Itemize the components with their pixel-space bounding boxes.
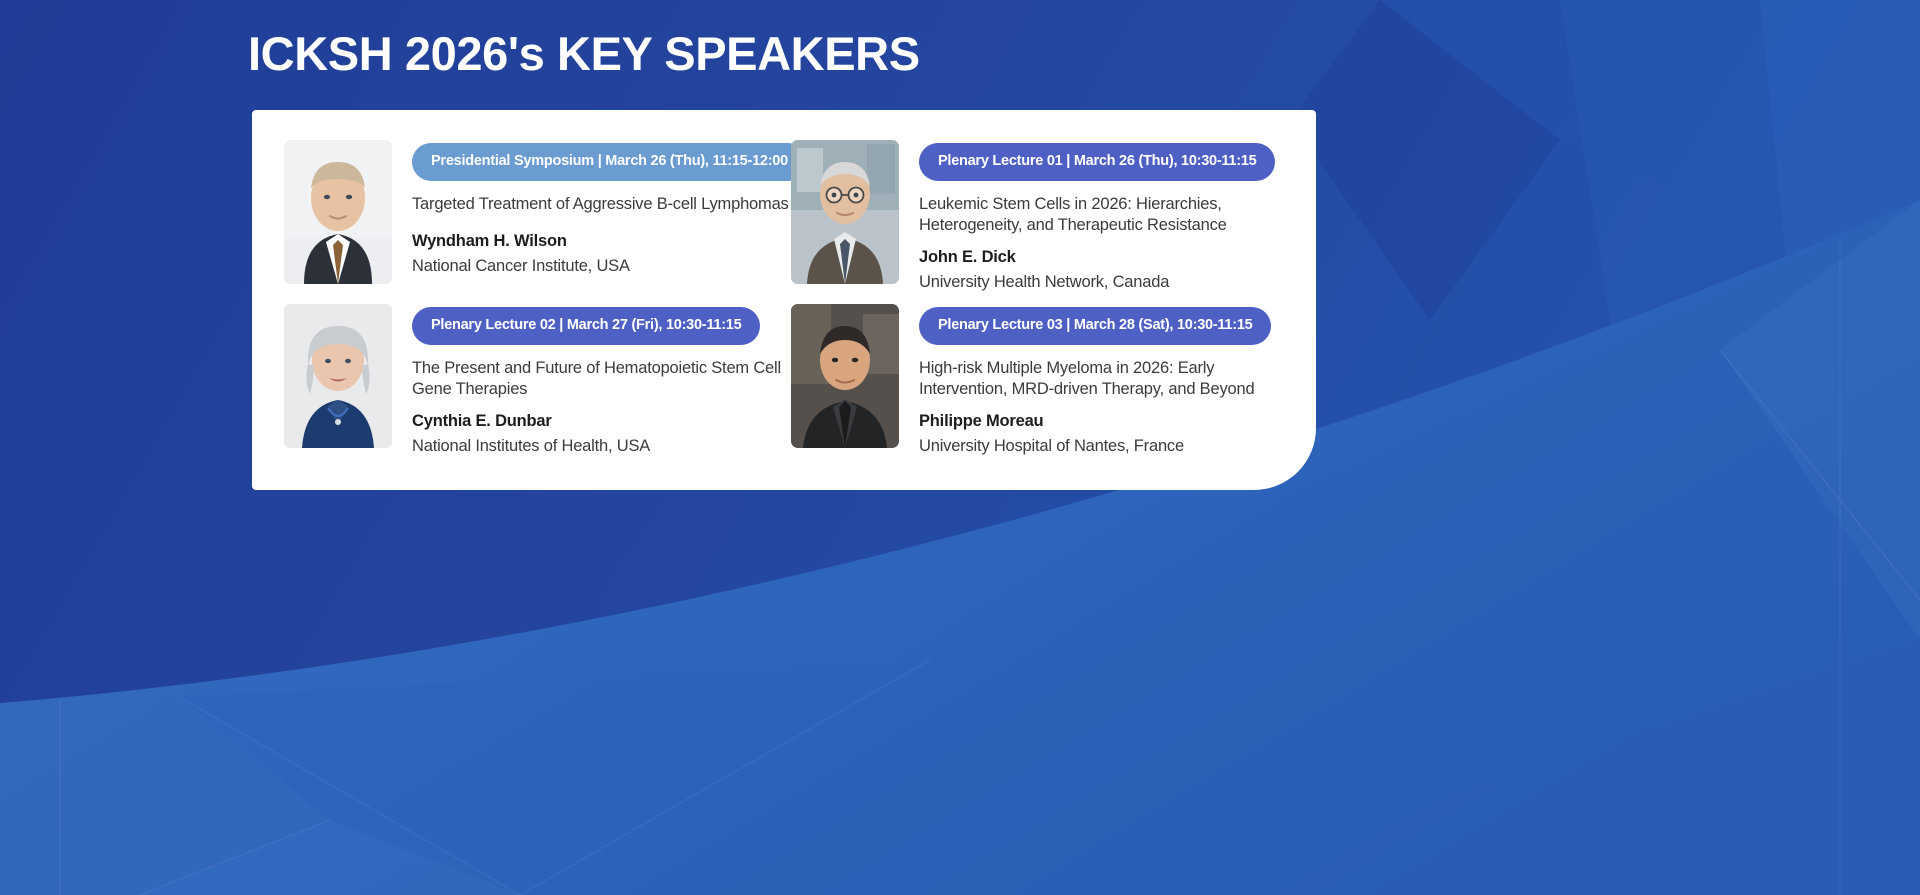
session-badge[interactable]: Presidential Symposium | March 26 (Thu),… <box>412 143 807 181</box>
speaker-name: Wyndham H. Wilson <box>412 231 791 252</box>
speaker-name: John E. Dick <box>919 247 1298 268</box>
session-badge[interactable]: Plenary Lecture 03 | March 28 (Sat), 10:… <box>919 307 1271 345</box>
speaker-affiliation: University Health Network, Canada <box>919 272 1298 293</box>
speaker-details: Plenary Lecture 02 | March 27 (Fri), 10:… <box>412 304 791 457</box>
portrait-dunbar-image <box>284 304 392 448</box>
session-badge[interactable]: Plenary Lecture 02 | March 27 (Fri), 10:… <box>412 307 760 345</box>
session-badge[interactable]: Plenary Lecture 01 | March 26 (Thu), 10:… <box>919 143 1275 181</box>
speaker-affiliation: University Hospital of Nantes, France <box>919 436 1298 457</box>
portrait-wilson-image <box>284 140 392 284</box>
speaker-affiliation: National Cancer Institute, USA <box>412 256 791 277</box>
speaker-affiliation: National Institutes of Health, USA <box>412 436 791 457</box>
speaker-details: Presidential Symposium | March 26 (Thu),… <box>412 140 791 277</box>
speaker-portrait <box>284 140 392 284</box>
speaker-poster: ICKSH 2026's KEY SPEAKERS <box>0 0 1920 895</box>
lecture-title: High-risk Multiple Myeloma in 2026: Earl… <box>919 358 1298 402</box>
speaker-card[interactable]: Presidential Symposium | March 26 (Thu),… <box>284 140 791 304</box>
page-title: ICKSH 2026's KEY SPEAKERS <box>248 26 920 81</box>
speaker-card[interactable]: Plenary Lecture 01 | March 26 (Thu), 10:… <box>791 140 1298 304</box>
lecture-title: Leukemic Stem Cells in 2026: Hierarchies… <box>919 194 1298 238</box>
speaker-details: Plenary Lecture 03 | March 28 (Sat), 10:… <box>919 304 1298 457</box>
speaker-details: Plenary Lecture 01 | March 26 (Thu), 10:… <box>919 140 1298 293</box>
speaker-name: Cynthia E. Dunbar <box>412 411 791 432</box>
speakers-grid: Presidential Symposium | March 26 (Thu),… <box>284 140 1292 468</box>
lecture-title: Targeted Treatment of Aggressive B-cell … <box>412 194 791 216</box>
portrait-moreau-image <box>791 304 899 448</box>
portrait-dick-image <box>791 140 899 284</box>
speakers-panel: Presidential Symposium | March 26 (Thu),… <box>252 110 1316 490</box>
speaker-portrait <box>791 140 899 284</box>
speaker-card[interactable]: Plenary Lecture 02 | March 27 (Fri), 10:… <box>284 304 791 468</box>
speaker-card[interactable]: Plenary Lecture 03 | March 28 (Sat), 10:… <box>791 304 1298 468</box>
speaker-portrait <box>791 304 899 448</box>
lecture-title: The Present and Future of Hematopoietic … <box>412 358 791 402</box>
speaker-portrait <box>284 304 392 448</box>
speaker-name: Philippe Moreau <box>919 411 1298 432</box>
